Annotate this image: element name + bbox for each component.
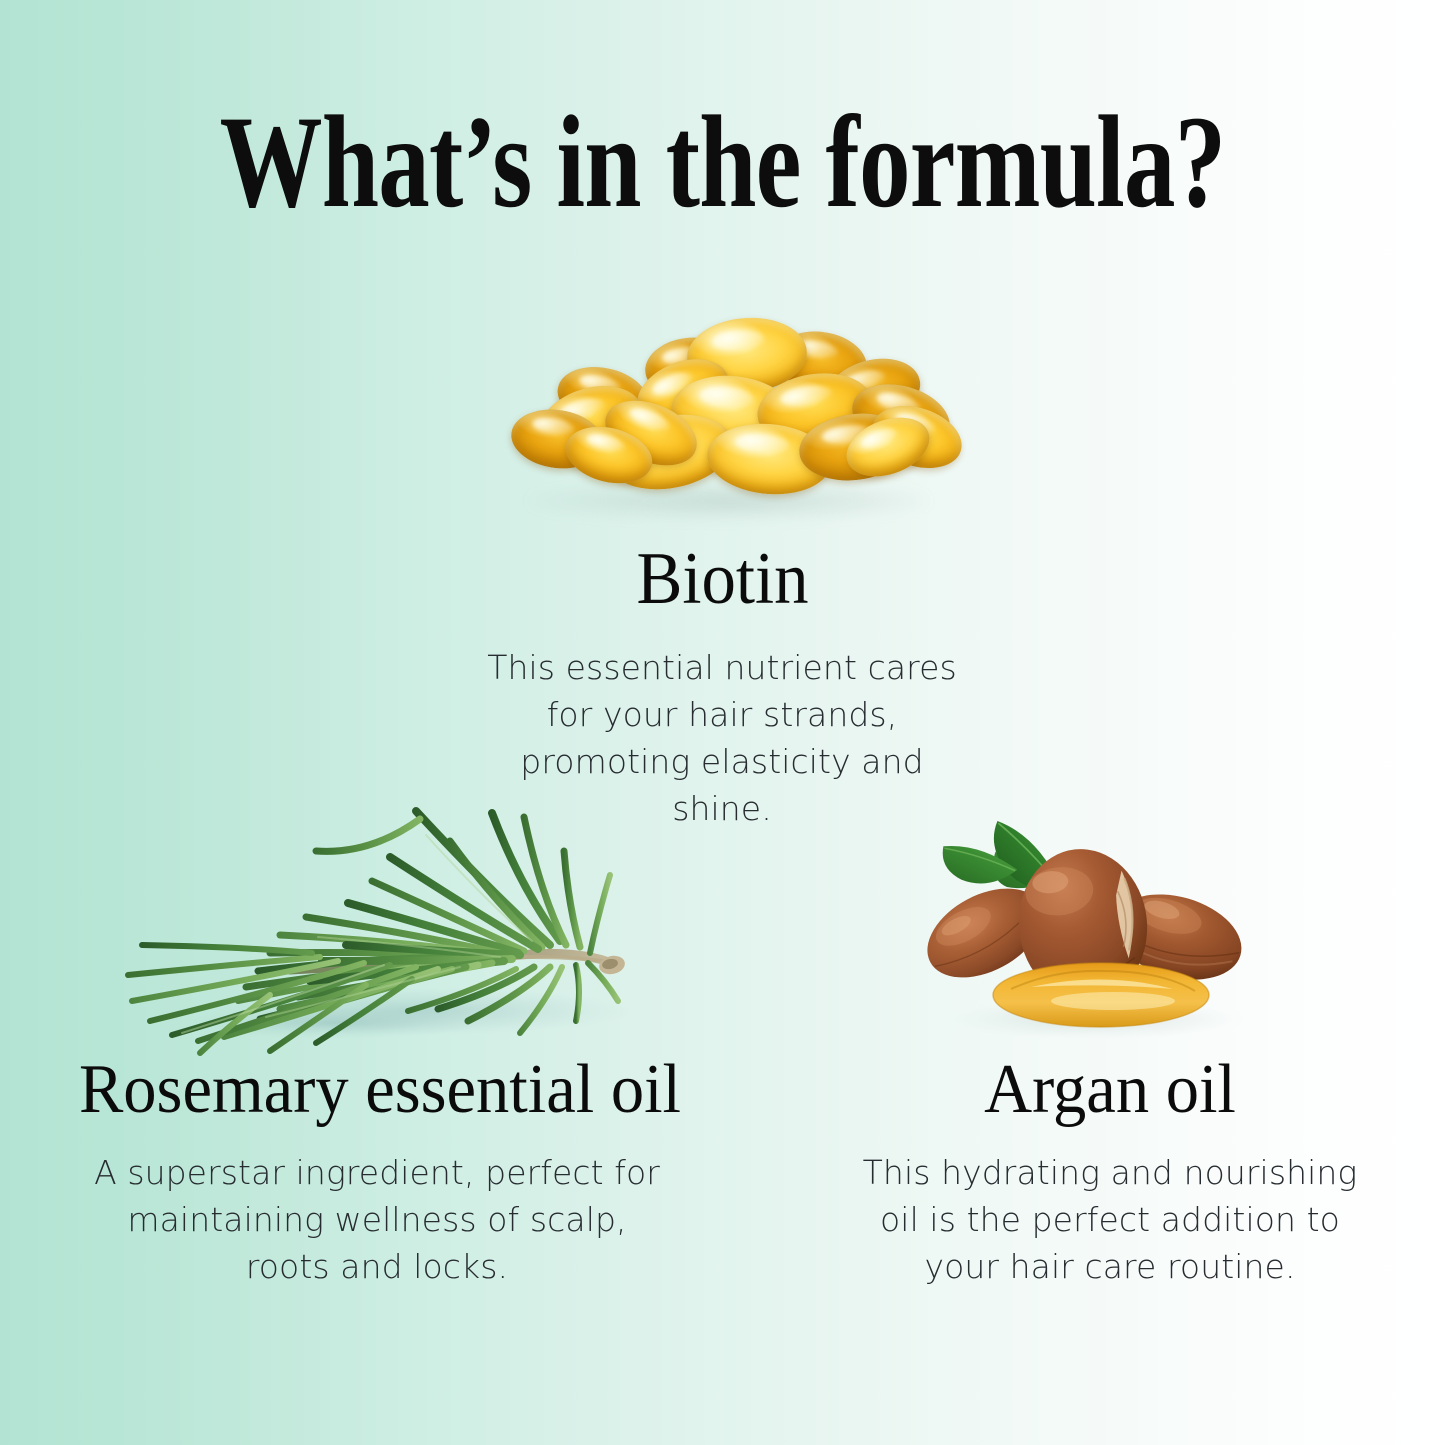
biotin-softgel-capsules-image [495,312,955,527]
ingredient-infographic-poster: What’s in the formula? Biotin This essen… [0,0,1445,1445]
ingredient-description-argan: This hydrating and nourishing oil is the… [845,1150,1375,1291]
ingredient-description-rosemary: A superstar ingredient, perfect for main… [92,1150,662,1291]
ingredient-name-argan: Argan oil [844,1055,1376,1125]
ingredient-name-rosemary: Rosemary essential oil [19,1055,741,1125]
capsule-pile-shadow [529,484,929,518]
ingredient-name-biotin: Biotin [51,542,1395,616]
page-title: What’s in the formula? [159,96,1286,228]
rosemary-sprig-image [120,795,665,1060]
argan-nuts-and-oil-image [905,805,1275,1050]
